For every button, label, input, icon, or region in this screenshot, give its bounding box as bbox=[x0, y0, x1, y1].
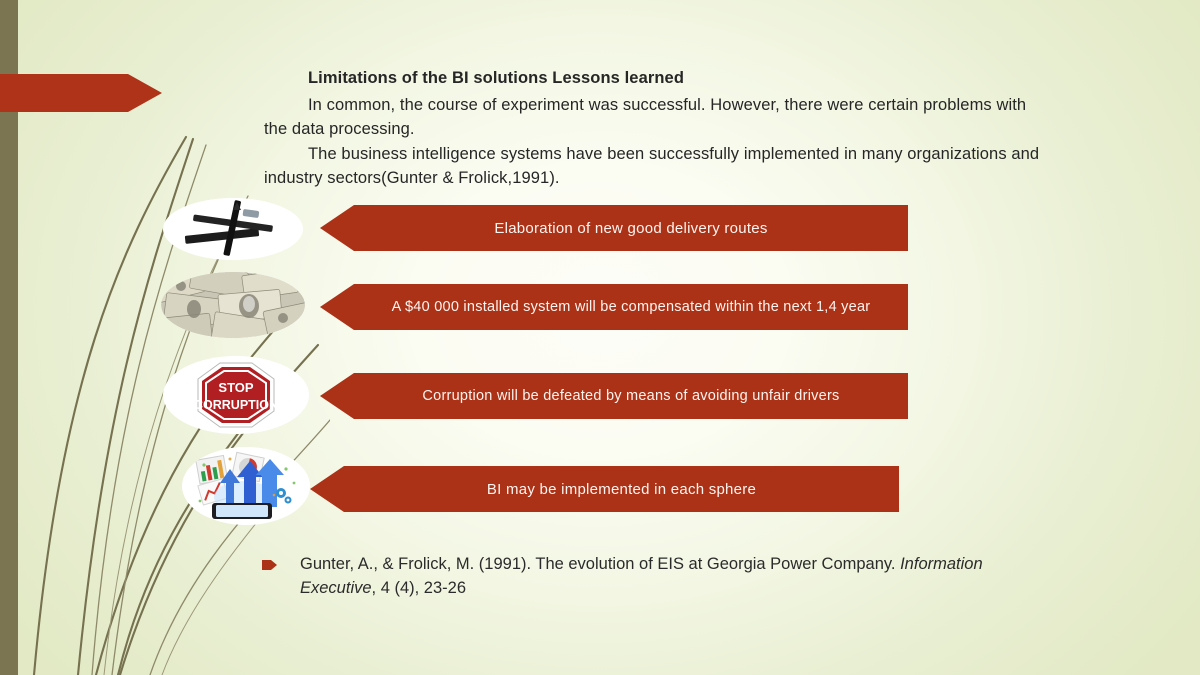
banner-label-4: BI may be implemented in each sphere bbox=[453, 481, 756, 498]
body-paragraph-1: In common, the course of experiment was … bbox=[264, 93, 1054, 142]
dollar-bills-image bbox=[161, 272, 305, 338]
banner-label-3: Corruption will be defeated by means of … bbox=[388, 388, 839, 404]
banner-label-2: A $40 000 installed system will be compe… bbox=[358, 299, 871, 315]
citation-part-2: , 4 (4), 23-26 bbox=[372, 579, 466, 597]
citation-block: Gunter, A., & Frolick, M. (1991). The ev… bbox=[262, 552, 1052, 600]
body-paragraph-2: The business intelligence systems have b… bbox=[264, 142, 1054, 191]
stop-corruption-sign-image: STOP CORRUPTION bbox=[163, 356, 309, 434]
stop-sign-line-2: CORRUPTION bbox=[194, 398, 278, 412]
banner-row-2[interactable]: A $40 000 installed system will be compe… bbox=[320, 284, 908, 330]
citation-part-1: Gunter, A., & Frolick, M. (1991). The ev… bbox=[300, 555, 900, 573]
crossed-pens-image bbox=[163, 198, 303, 260]
top-left-arrow-shape bbox=[0, 74, 162, 112]
slide-text-block: Limitations of the BI solutions Lessons … bbox=[264, 66, 1054, 191]
citation-text: Gunter, A., & Frolick, M. (1991). The ev… bbox=[262, 552, 1052, 600]
banner-label-1: Elaboration of new good delivery routes bbox=[460, 220, 767, 237]
page-title: Limitations of the BI solutions Lessons … bbox=[264, 66, 1054, 91]
banner-row-4[interactable]: BI may be implemented in each sphere bbox=[310, 466, 899, 512]
slide-canvas: Limitations of the BI solutions Lessons … bbox=[0, 0, 1200, 675]
banner-row-3[interactable]: Corruption will be defeated by means of … bbox=[320, 373, 908, 419]
banner-row-1[interactable]: Elaboration of new good delivery routes bbox=[320, 205, 908, 251]
tablet-charts-arrows-image bbox=[182, 447, 310, 525]
stop-sign-line-1: STOP bbox=[218, 380, 253, 395]
